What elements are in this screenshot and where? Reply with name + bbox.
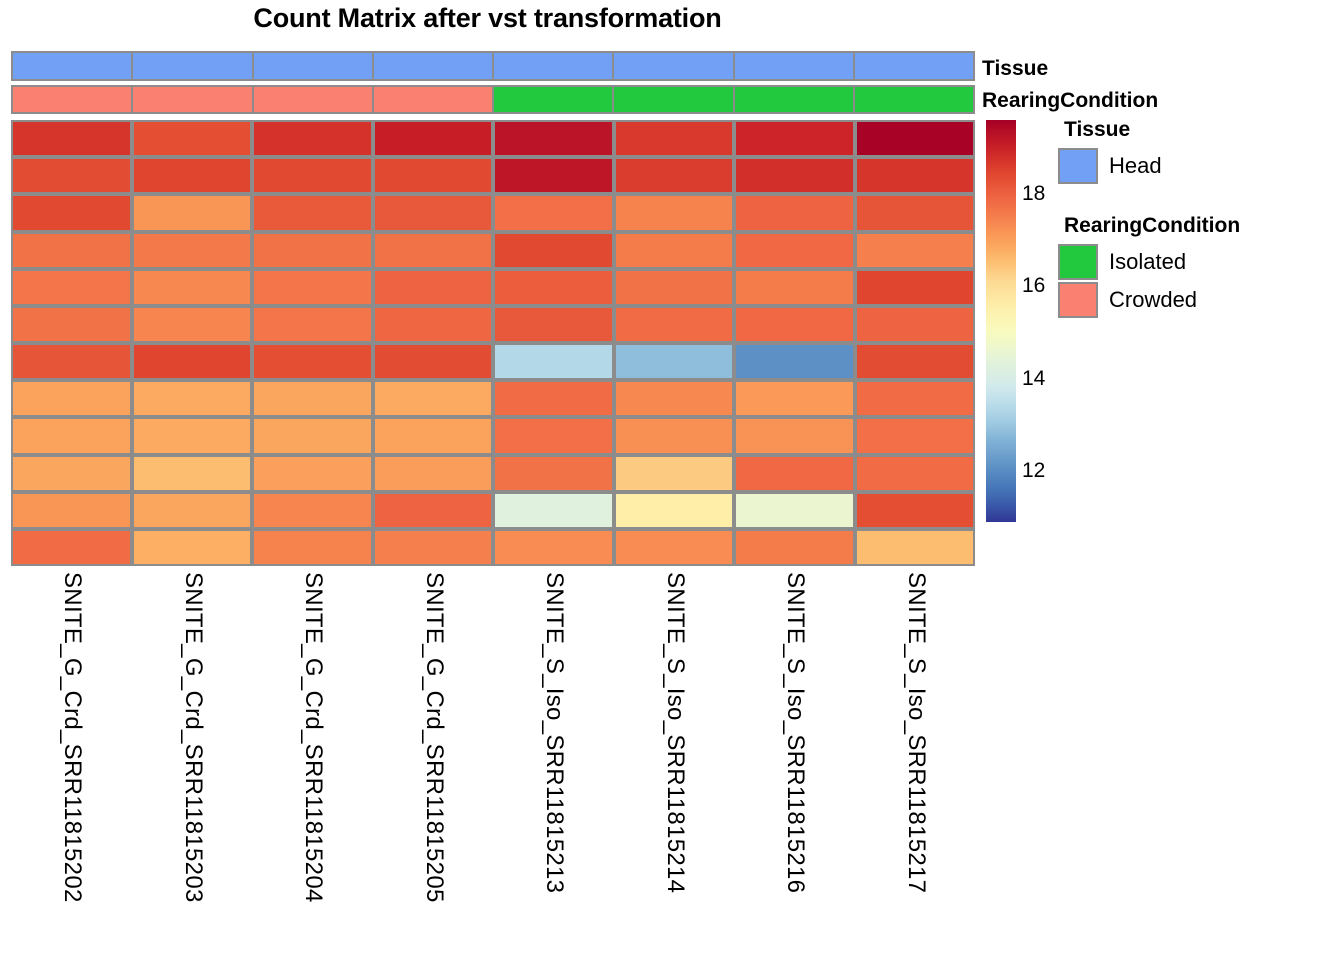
heatmap-cell	[132, 306, 253, 343]
colorbar	[986, 120, 1016, 522]
heatmap-cell	[855, 492, 976, 529]
x-axis-tick-label: SNITE_S_Iso_SRR11815216	[781, 572, 809, 893]
heatmap-cell	[373, 417, 494, 454]
heatmap-cell	[493, 529, 614, 566]
x-axis-tick-label-slot: SNITE_S_Iso_SRR11815217	[855, 566, 976, 956]
legend-title-rearing-condition: RearingCondition	[1064, 214, 1240, 237]
legend-title-tissue: Tissue	[1064, 118, 1162, 141]
heatmap-cell	[252, 417, 373, 454]
colorbar-tick-label: 12	[1022, 460, 1045, 481]
heatmap-cell	[614, 455, 735, 492]
annotation-cell	[372, 51, 494, 81]
heatmap-cell	[614, 269, 735, 306]
colorbar-tick-label: 18	[1022, 183, 1045, 204]
legend-item[interactable]: Head	[1058, 147, 1162, 185]
heatmap-cell	[855, 529, 976, 566]
heatmap-cell	[855, 455, 976, 492]
heatmap-cell	[373, 492, 494, 529]
heatmap-cell	[373, 120, 494, 157]
annotation-cell	[252, 51, 374, 81]
heatmap-cell	[132, 343, 253, 380]
heatmap-cell	[734, 417, 855, 454]
x-axis-tick-label-slot: SNITE_G_Crd_SRR11815204	[252, 566, 373, 956]
heatmap-cell	[373, 306, 494, 343]
heatmap-cell	[132, 380, 253, 417]
heatmap-cell	[493, 380, 614, 417]
heatmap-cell	[614, 306, 735, 343]
heatmap-cell	[855, 120, 976, 157]
annotation-cell	[733, 51, 855, 81]
heatmap-cell	[855, 194, 976, 231]
heatmap-cell	[11, 269, 132, 306]
heatmap-cell	[734, 306, 855, 343]
heatmap-cell	[614, 380, 735, 417]
heatmap-cell	[614, 120, 735, 157]
heatmap-cell	[855, 343, 976, 380]
page-title: Count Matrix after vst transformation	[0, 3, 975, 34]
x-axis-tick-label: SNITE_S_Iso_SRR11815214	[661, 572, 689, 893]
heatmap-cell	[734, 269, 855, 306]
heatmap-cell	[252, 194, 373, 231]
legend-label-crowded: Crowded	[1109, 289, 1197, 311]
heatmap-cell	[11, 157, 132, 194]
colorbar-tick-label: 16	[1022, 275, 1045, 296]
heatmap-cell	[855, 417, 976, 454]
x-axis-tick-label: SNITE_S_Iso_SRR11815217	[902, 572, 930, 893]
heatmap-cell	[11, 529, 132, 566]
heatmap-cell	[11, 492, 132, 529]
heatmap-cell	[493, 120, 614, 157]
x-axis-tick-label-slot: SNITE_G_Crd_SRR11815203	[132, 566, 253, 956]
heatmap-grid	[11, 120, 975, 566]
heatmap-figure: Count Matrix after vst transformation Ti…	[0, 0, 1344, 960]
annotation-cell	[853, 85, 975, 114]
heatmap-cell	[252, 157, 373, 194]
heatmap-cell	[132, 417, 253, 454]
x-axis-tick-label-slot: SNITE_S_Iso_SRR11815214	[614, 566, 735, 956]
annotation-cell	[612, 85, 734, 114]
heatmap-cell	[373, 455, 494, 492]
heatmap-cell	[855, 380, 976, 417]
heatmap-cell	[734, 120, 855, 157]
heatmap-cell	[734, 157, 855, 194]
annotation-bar-rearing-condition	[11, 85, 975, 114]
heatmap-cell	[11, 120, 132, 157]
heatmap-cell	[11, 455, 132, 492]
legend-swatch-crowded	[1058, 282, 1098, 318]
heatmap-cell	[252, 455, 373, 492]
annotation-label-rearing-condition: RearingCondition	[982, 90, 1158, 111]
heatmap-cell	[614, 232, 735, 269]
x-axis-tick-label-slot: SNITE_S_Iso_SRR11815213	[493, 566, 614, 956]
heatmap-cell	[373, 380, 494, 417]
heatmap-cell	[252, 269, 373, 306]
annotation-cell	[612, 51, 734, 81]
heatmap-cell	[493, 306, 614, 343]
heatmap-cell	[373, 157, 494, 194]
x-axis-tick-label: SNITE_G_Crd_SRR11815204	[299, 572, 327, 903]
heatmap-cell	[493, 232, 614, 269]
heatmap-cell	[734, 529, 855, 566]
heatmap-cell	[614, 343, 735, 380]
heatmap-cell	[252, 120, 373, 157]
heatmap-cell	[252, 529, 373, 566]
legend-label-isolated: Isolated	[1109, 251, 1186, 273]
heatmap-cell	[373, 529, 494, 566]
heatmap-cell	[855, 269, 976, 306]
heatmap-cell	[855, 157, 976, 194]
legend-rearing-condition: RearingCondition Isolated Crowded	[1058, 214, 1240, 319]
annotation-cell	[11, 51, 133, 81]
heatmap-cell	[252, 380, 373, 417]
heatmap-cell	[132, 157, 253, 194]
heatmap-cell	[11, 232, 132, 269]
heatmap-cell	[614, 492, 735, 529]
heatmap-cell	[11, 380, 132, 417]
annotation-cell	[733, 85, 855, 114]
annotation-cell	[131, 85, 253, 114]
colorbar-tick-label: 14	[1022, 368, 1045, 389]
heatmap-cell	[493, 417, 614, 454]
heatmap-cell	[734, 492, 855, 529]
heatmap-cell	[373, 194, 494, 231]
annotation-cell	[492, 85, 614, 114]
legend-tissue: Tissue Head	[1058, 118, 1162, 185]
annotation-cell	[492, 51, 614, 81]
legend-swatch-head	[1058, 148, 1098, 184]
heatmap-cell	[373, 269, 494, 306]
heatmap-cell	[493, 194, 614, 231]
x-axis-tick-label: SNITE_G_Crd_SRR11815203	[179, 572, 207, 903]
x-axis-tick-label: SNITE_S_Iso_SRR11815213	[540, 572, 568, 893]
heatmap-cell	[493, 492, 614, 529]
heatmap-cell	[855, 306, 976, 343]
heatmap-cell	[614, 417, 735, 454]
heatmap-cell	[614, 529, 735, 566]
heatmap-cell	[373, 232, 494, 269]
heatmap-cell	[132, 492, 253, 529]
annotation-cell	[131, 51, 253, 81]
heatmap-cell	[132, 120, 253, 157]
x-axis-tick-label-slot: SNITE_G_Crd_SRR11815202	[11, 566, 132, 956]
heatmap-cell	[855, 232, 976, 269]
annotation-label-tissue: Tissue	[982, 58, 1048, 79]
heatmap-cell	[132, 232, 253, 269]
x-axis-tick-label: SNITE_G_Crd_SRR11815202	[58, 572, 86, 903]
annotation-cell	[11, 85, 133, 114]
annotation-cell	[372, 85, 494, 114]
heatmap-cell	[252, 232, 373, 269]
x-axis-tick-label-slot: SNITE_G_Crd_SRR11815205	[373, 566, 494, 956]
heatmap-cell	[252, 343, 373, 380]
annotation-cell	[853, 51, 975, 81]
annotation-cell	[252, 85, 374, 114]
legend-item[interactable]: Isolated	[1058, 243, 1240, 281]
x-axis-tick-labels: SNITE_G_Crd_SRR11815202SNITE_G_Crd_SRR11…	[11, 566, 975, 956]
heatmap-cell	[734, 455, 855, 492]
heatmap-cell	[132, 194, 253, 231]
heatmap-cell	[734, 343, 855, 380]
heatmap-cell	[252, 306, 373, 343]
heatmap-cell	[11, 417, 132, 454]
x-axis-tick-label: SNITE_G_Crd_SRR11815205	[420, 572, 448, 903]
heatmap-cell	[132, 455, 253, 492]
heatmap-cell	[11, 343, 132, 380]
heatmap-cell	[11, 194, 132, 231]
heatmap-cell	[132, 529, 253, 566]
legend-label-head: Head	[1109, 155, 1162, 177]
heatmap-cell	[734, 380, 855, 417]
annotation-bar-tissue	[11, 51, 975, 81]
heatmap-cell	[11, 306, 132, 343]
heatmap-cell	[734, 194, 855, 231]
heatmap-cell	[493, 157, 614, 194]
heatmap-cell	[493, 269, 614, 306]
colorbar-gradient	[986, 120, 1016, 522]
x-axis-tick-label-slot: SNITE_S_Iso_SRR11815216	[734, 566, 855, 956]
heatmap-cell	[614, 194, 735, 231]
heatmap-cell	[132, 269, 253, 306]
heatmap-cell	[252, 492, 373, 529]
heatmap-cell	[493, 343, 614, 380]
heatmap-cell	[493, 455, 614, 492]
heatmap-cell	[734, 232, 855, 269]
heatmap-cell	[373, 343, 494, 380]
legend-item[interactable]: Crowded	[1058, 281, 1240, 319]
heatmap-cell	[614, 157, 735, 194]
legend-swatch-isolated	[1058, 244, 1098, 280]
